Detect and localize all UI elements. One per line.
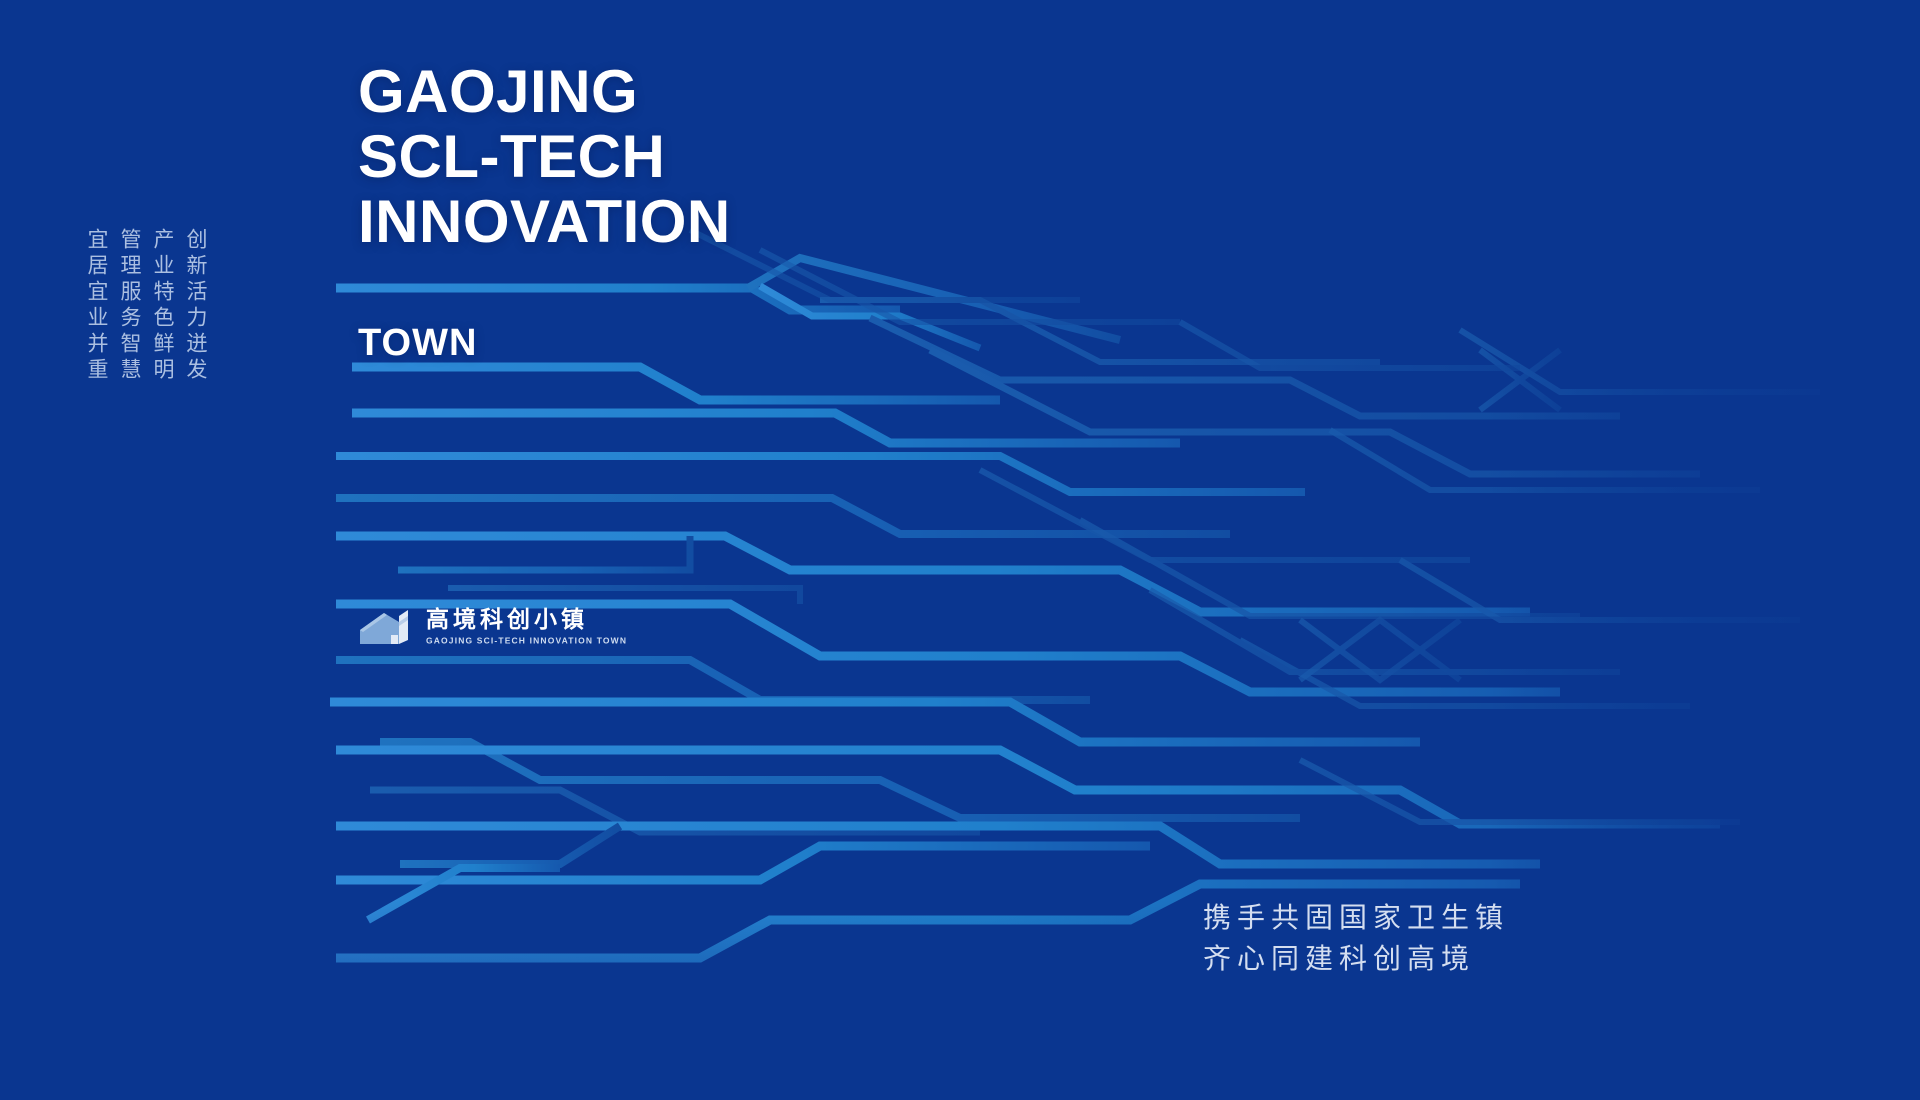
logo-text-block: 高境科创小镇 GAOJING SCI-TECH INNOVATION TOWN bbox=[426, 607, 627, 646]
right-edge-fade bbox=[1490, 0, 1920, 1100]
logo-name-en: GAOJING SCI-TECH INNOVATION TOWN bbox=[426, 636, 627, 646]
circuit-pattern-background bbox=[0, 0, 1920, 1100]
page-subtitle: TOWN bbox=[358, 322, 477, 365]
house-building-icon bbox=[358, 606, 416, 648]
bottom-edge-fade bbox=[0, 900, 1920, 1100]
poster-canvas: GAOJING SCL-TECH INNOVATION TOWN 创新活力迸发 … bbox=[0, 0, 1920, 1100]
bottom-slogan: 携手共固国家卫生镇 齐心同建科创高境 bbox=[1203, 898, 1509, 979]
logo-lockup: 高境科创小镇 GAOJING SCI-TECH INNOVATION TOWN bbox=[358, 606, 627, 648]
page-title: GAOJING SCL-TECH INNOVATION bbox=[358, 60, 731, 254]
vertical-slogan-2: 产业特色鲜明 bbox=[152, 228, 173, 384]
vertical-slogan-3: 管理服务智慧 bbox=[119, 228, 140, 384]
logo-name-cn: 高境科创小镇 bbox=[426, 607, 627, 632]
vertical-slogan-1: 创新活力迸发 bbox=[185, 228, 206, 384]
vertical-slogan-group: 创新活力迸发 产业特色鲜明 管理服务智慧 宜居宜业并重 bbox=[86, 228, 206, 384]
top-edge-fade bbox=[0, 0, 1920, 190]
bottom-slogan-line-2: 齐心同建科创高境 bbox=[1203, 939, 1509, 980]
bottom-slogan-line-1: 携手共固国家卫生镇 bbox=[1203, 898, 1509, 939]
vertical-slogan-4: 宜居宜业并重 bbox=[86, 228, 107, 384]
